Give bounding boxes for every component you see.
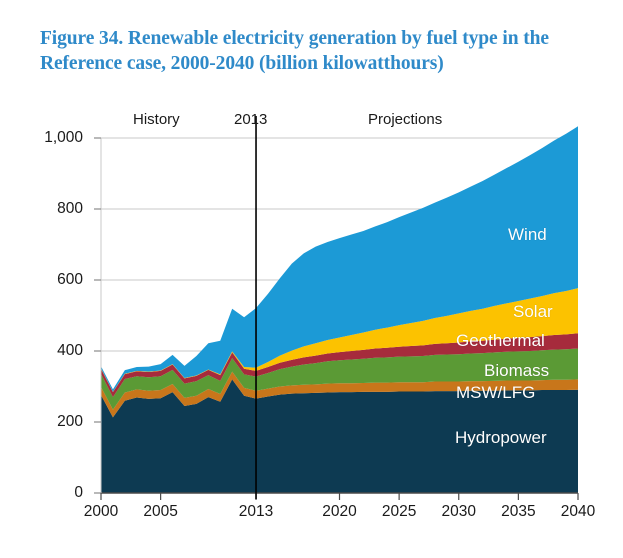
- series-label-geothermal: Geothermal: [456, 331, 545, 351]
- series-label-hydropower: Hydropower: [455, 428, 547, 448]
- projections-label: Projections: [368, 111, 442, 128]
- x-axis-tick-label-2035: 2035: [488, 503, 548, 521]
- y-axis-tick-label-600: 600: [23, 271, 83, 289]
- series-label-wind: Wind: [508, 225, 547, 245]
- x-axis-tick-label-2005: 2005: [131, 503, 191, 521]
- x-axis-tick-label-2013: 2013: [226, 503, 286, 521]
- divider-year-label: 2013: [234, 111, 267, 128]
- y-axis-tick-label-1000: 1,000: [23, 129, 83, 147]
- y-axis-tick-label-400: 400: [23, 342, 83, 360]
- x-axis-tick-label-2000: 2000: [71, 503, 131, 521]
- y-axis-tick-label-800: 800: [23, 200, 83, 218]
- x-axis-tick-label-2025: 2025: [369, 503, 429, 521]
- renewable-generation-area-chart: 02004006008001,0002000200520132020202520…: [0, 0, 623, 553]
- history-label: History: [133, 111, 180, 128]
- y-axis-tick-label-200: 200: [23, 413, 83, 431]
- y-axis-tick-label-0: 0: [23, 484, 83, 502]
- x-axis-tick-label-2030: 2030: [429, 503, 489, 521]
- series-label-solar: Solar: [513, 302, 553, 322]
- series-label-msw-lfg: MSW/LFG: [456, 383, 535, 403]
- x-axis-tick-label-2020: 2020: [310, 503, 370, 521]
- chart-svg: [0, 0, 623, 553]
- x-axis-tick-label-2040: 2040: [548, 503, 608, 521]
- series-label-biomass: Biomass: [484, 361, 549, 381]
